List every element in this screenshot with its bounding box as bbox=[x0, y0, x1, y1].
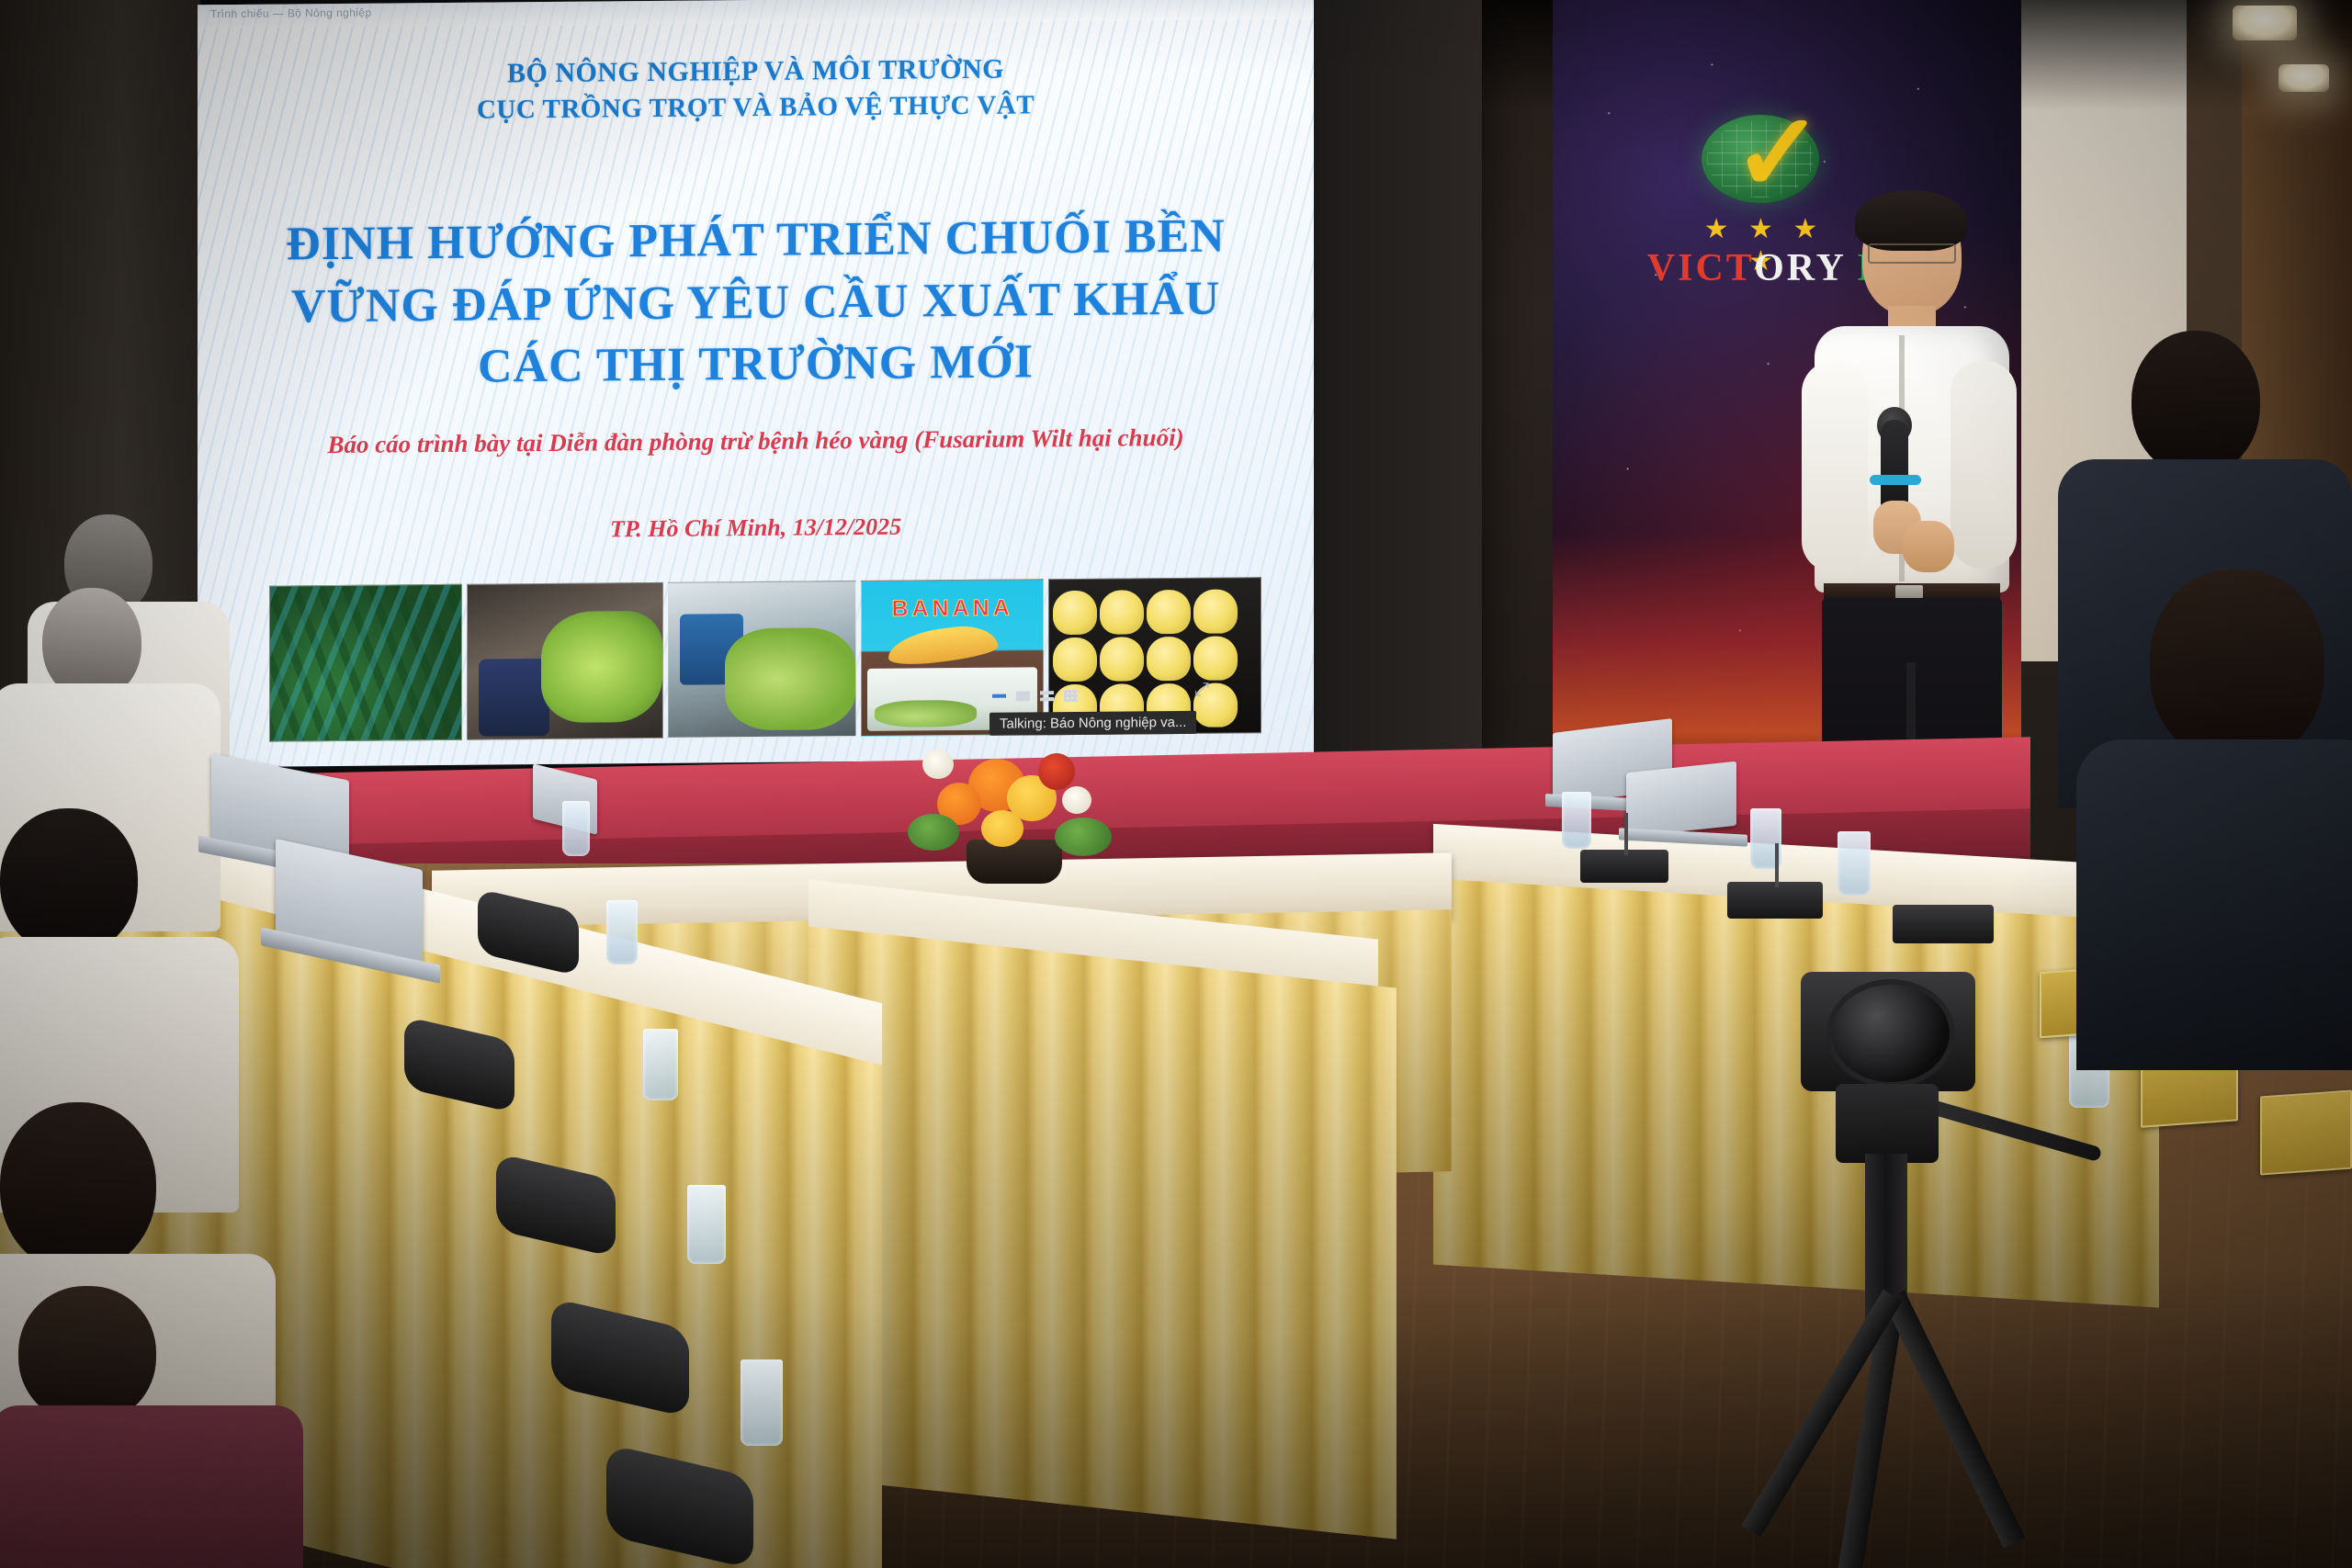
microphone-blue-ring bbox=[1870, 475, 1921, 485]
conference-microphone bbox=[1727, 882, 1823, 919]
slide-title: ĐỊNH HƯỚNG PHÁT TRIỂN CHUỐI BỀN VỮNG ĐÁP… bbox=[234, 205, 1277, 400]
tripod-head bbox=[1836, 1084, 1939, 1163]
water-glass bbox=[741, 1359, 783, 1446]
water-glass bbox=[562, 801, 590, 856]
slide-window-title: Trình chiếu — Bộ Nông nghiệp bbox=[210, 6, 372, 21]
slide-place-date: TP. Hồ Chí Minh, 13/12/2025 bbox=[198, 510, 1314, 547]
camera-lens-icon bbox=[1826, 979, 1955, 1088]
banana-graphic-icon bbox=[886, 623, 999, 668]
flower-white bbox=[922, 750, 954, 779]
banana-sign-text: BANANA bbox=[862, 594, 1044, 623]
water-glass bbox=[1562, 792, 1591, 849]
flower-centerpiece bbox=[900, 726, 1121, 886]
tripod-leg bbox=[1883, 1290, 2025, 1548]
audience-person bbox=[0, 1286, 294, 1568]
water-glass bbox=[643, 1029, 678, 1100]
tripod-pan-handle[interactable] bbox=[1922, 1098, 2103, 1163]
water-glass bbox=[1837, 831, 1871, 896]
microphone-stalk bbox=[1775, 843, 1779, 887]
flower-red bbox=[1038, 753, 1075, 790]
slide-title-line-1: ĐỊNH HƯỚNG PHÁT TRIỂN CHUỐI BỀN bbox=[234, 205, 1277, 276]
water-glass bbox=[606, 900, 638, 964]
ceiling-lamp-icon bbox=[2278, 64, 2329, 92]
speaker-hair bbox=[1855, 190, 1967, 251]
slide-photo-sorting bbox=[668, 581, 856, 739]
slide-icon[interactable] bbox=[1016, 691, 1030, 701]
water-glass bbox=[687, 1185, 726, 1264]
foliage-green bbox=[908, 814, 959, 851]
hotel-name-part-1: VICT bbox=[1647, 247, 1754, 289]
slide-window-titlebar: Trình chiếu — Bộ Nông nghiệp bbox=[198, 0, 1314, 28]
slide-title-line-3: CÁC THỊ TRƯỜNG MỚI bbox=[234, 329, 1277, 400]
speaker-left-arm bbox=[1802, 361, 1868, 572]
flower-white bbox=[1062, 786, 1091, 814]
screen-right-border bbox=[1312, 0, 1482, 776]
slide-photo-plantation bbox=[269, 584, 462, 742]
rows-icon[interactable] bbox=[1040, 691, 1054, 701]
presentation-toolbar[interactable] bbox=[992, 684, 1102, 707]
speaker-right-arm bbox=[1951, 361, 2017, 569]
delegate-nameplate bbox=[2260, 1090, 2352, 1176]
slide-photo-packhouse bbox=[467, 582, 664, 740]
slide-organization: BỘ NÔNG NGHIỆP VÀ MÔI TRƯỜNG CỤC TRỒNG T… bbox=[198, 49, 1314, 130]
flower-vase bbox=[967, 840, 1062, 884]
ceiling-lamp-icon bbox=[2233, 6, 2297, 40]
grid-icon[interactable] bbox=[1064, 689, 1078, 701]
glasses-icon bbox=[1868, 243, 1956, 264]
pen-underline-icon[interactable] bbox=[992, 694, 1006, 698]
camera-body bbox=[1801, 972, 1975, 1091]
slide-surface: Trình chiếu — Bộ Nông nghiệp BỘ NÔNG NGH… bbox=[198, 0, 1314, 767]
microphone-stalk bbox=[1624, 813, 1628, 855]
speaker-hand-lower bbox=[1903, 521, 1954, 572]
checkmark-icon: ✓ bbox=[1733, 99, 1803, 206]
foliage-green bbox=[1055, 818, 1112, 856]
conference-room-photo: Trình chiếu — Bộ Nông nghiệp BỘ NÔNG NGH… bbox=[0, 0, 2352, 1568]
flower-yellow bbox=[981, 810, 1023, 847]
expand-icon[interactable]: ⤢ bbox=[1194, 680, 1209, 701]
slide-title-line-2: VỮNG ĐÁP ỨNG YÊU CẦU XUẤT KHẨU bbox=[234, 267, 1277, 338]
tripod-video-camera bbox=[1727, 928, 2168, 1568]
slide-subtitle: Báo cáo trình bày tại Diễn đàn phòng trừ… bbox=[225, 423, 1286, 460]
conference-table-center-skirt bbox=[808, 926, 1396, 1539]
